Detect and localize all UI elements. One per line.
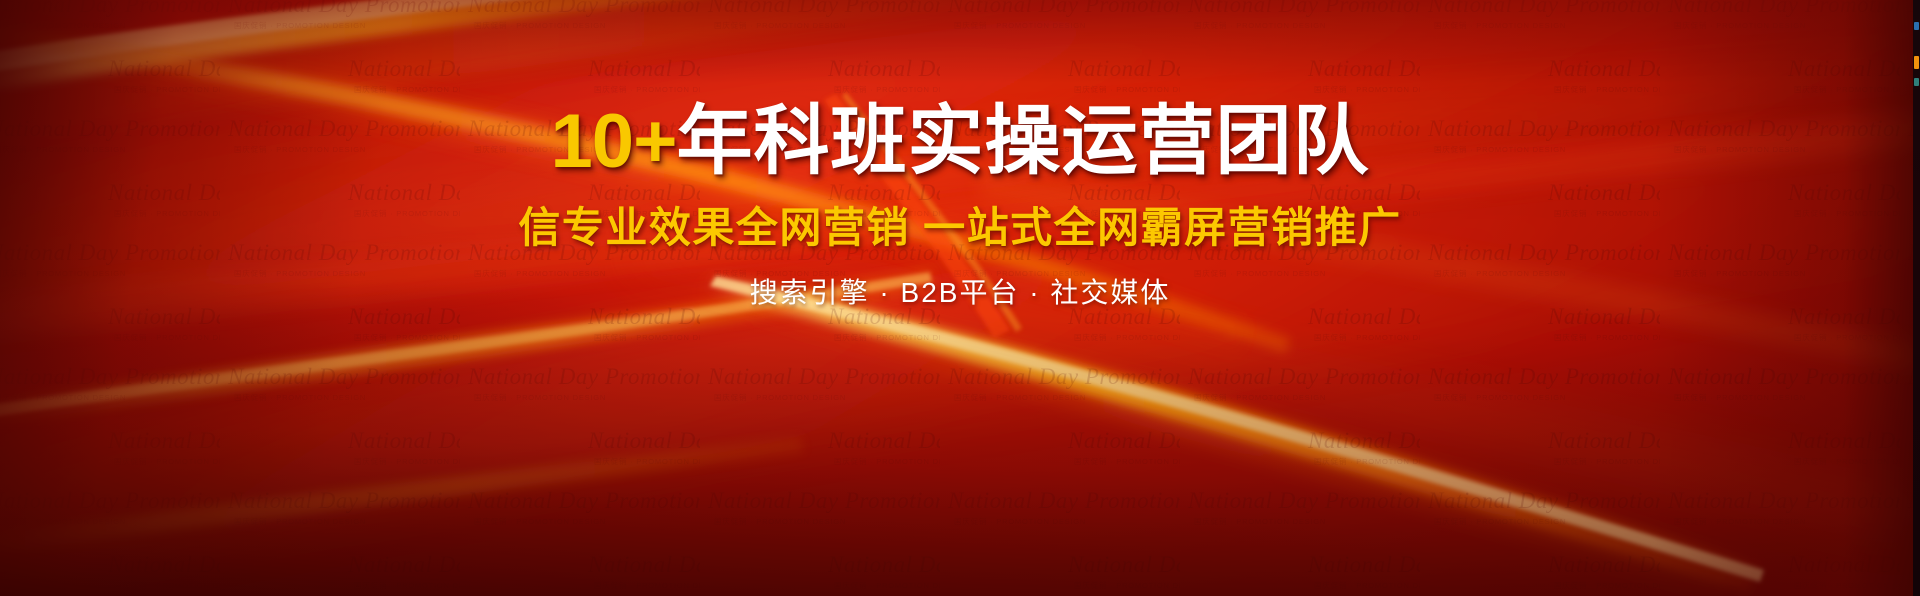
banner-content: 10+年科班实操运营团队 信专业效果全网营销 一站式全网霸屏营销推广 搜索引擎 …	[0, 0, 1920, 596]
promo-banner: National Day Promotion 国庆促销 · PROMOTION …	[0, 0, 1920, 596]
headline-number: 10+	[551, 99, 677, 184]
headline: 10+年科班实操运营团队	[551, 104, 1370, 180]
subtitle: 信专业效果全网营销 一站式全网霸屏营销推广	[518, 207, 1401, 249]
tagline: 搜索引擎 · B2B平台 · 社交媒体	[750, 279, 1171, 307]
headline-text: 年科班实操运营团队	[676, 99, 1369, 184]
